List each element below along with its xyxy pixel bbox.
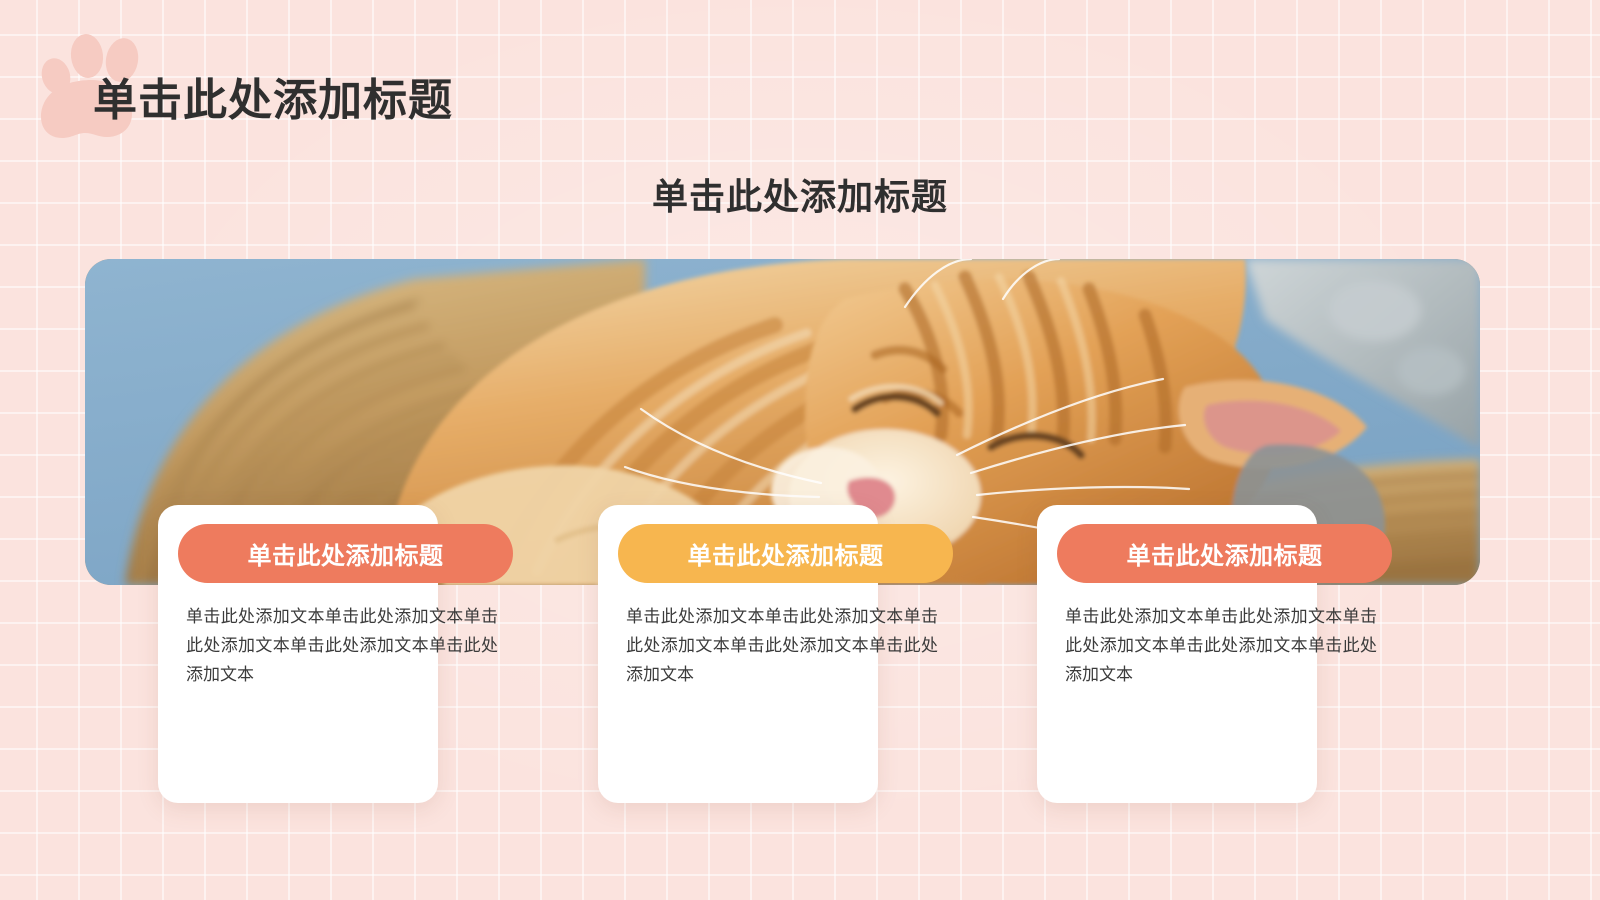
card-3-badge[interactable]: 单击此处添加标题: [1057, 524, 1392, 583]
card-2-badge[interactable]: 单击此处添加标题: [618, 524, 953, 583]
card-1-badge[interactable]: 单击此处添加标题: [178, 524, 513, 583]
info-card-3[interactable]: 单击此处添加标题 单击此处添加文本单击此处添加文本单击此处添加文本单击此处添加文…: [1037, 505, 1317, 803]
card-1-body-text: 单击此处添加文本单击此处添加文本单击此处添加文本单击此处添加文本单击此处添加文本: [186, 602, 498, 689]
section-subtitle: 单击此处添加标题: [0, 168, 1600, 220]
page-title: 单击此处添加标题: [93, 64, 453, 128]
info-card-2[interactable]: 单击此处添加标题 单击此处添加文本单击此处添加文本单击此处添加文本单击此处添加文…: [598, 505, 878, 803]
info-card-1[interactable]: 单击此处添加标题 单击此处添加文本单击此处添加文本单击此处添加文本单击此处添加文…: [158, 505, 438, 803]
card-2-body-text: 单击此处添加文本单击此处添加文本单击此处添加文本单击此处添加文本单击此处添加文本: [626, 602, 938, 689]
slide-canvas: 单击此处添加标题 单击此处添加标题: [0, 0, 1600, 900]
card-3-body-text: 单击此处添加文本单击此处添加文本单击此处添加文本单击此处添加文本单击此处添加文本: [1065, 602, 1377, 689]
